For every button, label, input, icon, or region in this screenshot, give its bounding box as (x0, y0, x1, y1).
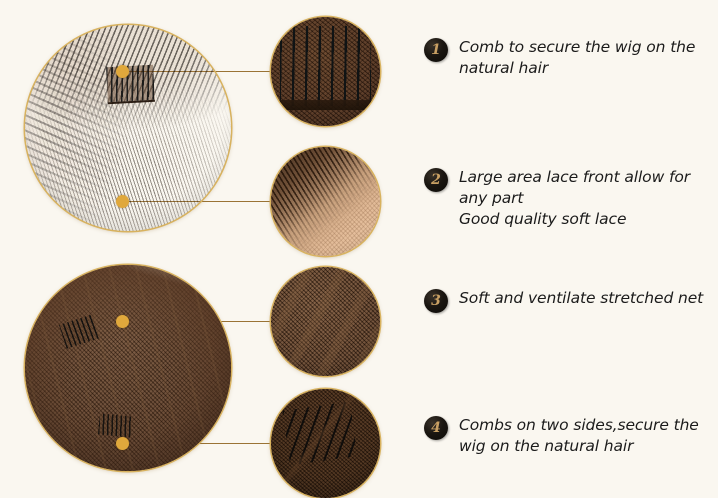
detail-photo-comb-teeth (271, 17, 380, 126)
feature-text-4: Combs on two sides,secure the wig on the… (459, 415, 699, 457)
marker-dot-3 (116, 315, 129, 328)
feature-row-2: 2 Large area lace front allow for any pa… (424, 167, 712, 230)
feature-row-4: 4 Combs on two sides,secure the wig on t… (424, 415, 712, 457)
side-comb-detail-vignette (271, 389, 380, 498)
feature-text-3: Soft and ventilate stretched net (459, 288, 703, 309)
marker-dot-4 (116, 437, 129, 450)
infographic-canvas: 1 Comb to secure the wig on the natural … (0, 0, 718, 495)
feature-row-1: 1 Comb to secure the wig on the natural … (424, 37, 712, 79)
net-detail-vignette (271, 267, 380, 376)
marker-dot-2 (116, 195, 129, 208)
feature-text-2: Large area lace front allow for any part… (459, 167, 690, 230)
feature-badge-4: 4 (424, 416, 448, 440)
detail-photo-stretched-net (271, 267, 380, 376)
feature-row-3: 3 Soft and ventilate stretched net (424, 288, 712, 313)
feature-text-1: Comb to secure the wig on the natural ha… (459, 37, 695, 79)
feature-badge-1: 1 (424, 38, 448, 62)
detail-photo-side-comb (271, 389, 380, 498)
feature-badge-3: 3 (424, 289, 448, 313)
comb-detail-vignette (271, 17, 380, 126)
marker-dot-1 (116, 65, 129, 78)
lace-detail-vignette (271, 147, 380, 256)
feature-badge-2: 2 (424, 168, 448, 192)
detail-photo-lace-front (271, 147, 380, 256)
